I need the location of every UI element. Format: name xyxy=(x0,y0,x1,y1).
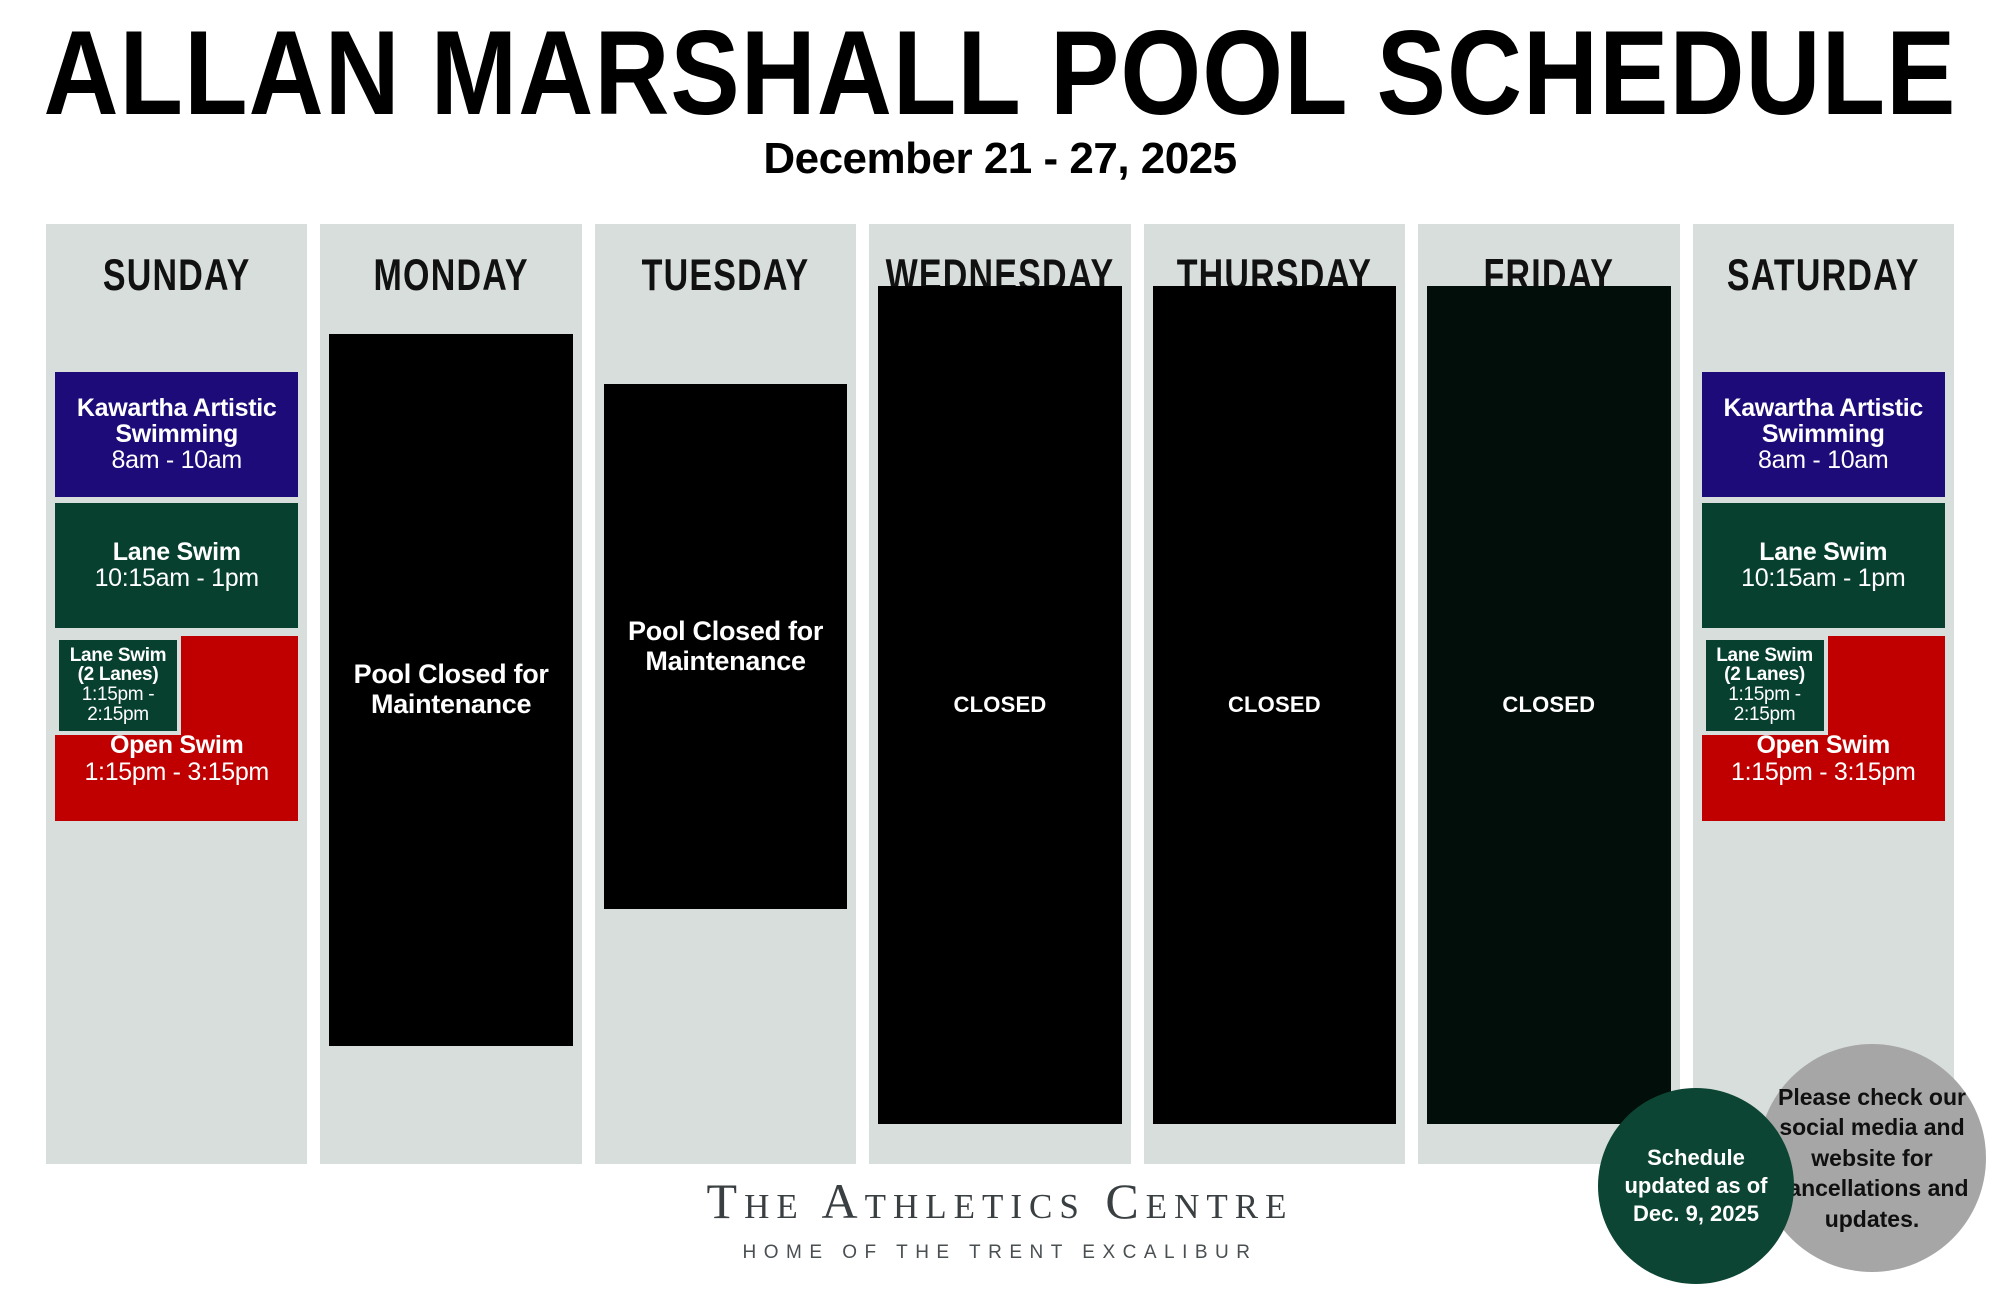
day-column-tuesday: TUESDAYPool Closed for Maintenance xyxy=(595,224,856,1164)
schedule-block-time: 1:15pm - 3:15pm xyxy=(1702,759,1945,786)
schedule-block-title: CLOSED xyxy=(1502,693,1595,717)
page-title: ALLAN MARSHALL POOL SCHEDULE xyxy=(0,14,2000,131)
overlay-block-title: Lane Swim (2 Lanes) xyxy=(63,646,173,685)
page-header: ALLAN MARSHALL POOL SCHEDULE December 21… xyxy=(0,0,2000,184)
schedule-block-title: Lane Swim xyxy=(1759,539,1887,565)
check-social-media-badge: Please check our social media and websit… xyxy=(1758,1044,1986,1272)
day-column-sunday: SUNDAYKawartha Artistic Swimming8am - 10… xyxy=(46,224,307,1164)
day-blocks-container: CLOSED xyxy=(1418,224,1679,1164)
day-column-saturday: SATURDAYKawartha Artistic Swimming8am - … xyxy=(1693,224,1954,1164)
day-blocks-container: Pool Closed for Maintenance xyxy=(320,224,581,1164)
schedule-block-title: Open Swim xyxy=(1702,732,1945,759)
schedule-block-textgroup: Open Swim1:15pm - 3:15pm xyxy=(1702,732,1945,786)
schedule-block-time: 8am - 10am xyxy=(1758,447,1888,474)
day-blocks-container: CLOSED xyxy=(869,224,1130,1164)
schedule-block-title: Pool Closed for Maintenance xyxy=(335,660,566,719)
schedule-block: Lane Swim10:15am - 1pm xyxy=(55,503,298,628)
day-blocks-container: Kawartha Artistic Swimming8am - 10amLane… xyxy=(1693,224,1954,1164)
schedule-block: Lane Swim (2 Lanes)1:15pm - 2:15pmOpen S… xyxy=(1702,636,1945,821)
schedule-block: CLOSED xyxy=(878,286,1121,1124)
schedule-block-time: 10:15am - 1pm xyxy=(1741,565,1905,592)
schedule-updated-badge: Schedule updated as of Dec. 9, 2025 xyxy=(1598,1088,1794,1284)
schedule-block: CLOSED xyxy=(1427,286,1670,1124)
schedule-block-time: 8am - 10am xyxy=(112,447,242,474)
day-column-wednesday: WEDNESDAYCLOSED xyxy=(869,224,1130,1164)
schedule-block-textgroup: Open Swim1:15pm - 3:15pm xyxy=(55,732,298,786)
overlay-lane-swim-block: Lane Swim (2 Lanes)1:15pm - 2:15pm xyxy=(1702,636,1828,735)
day-blocks-container: CLOSED xyxy=(1144,224,1405,1164)
schedule-block: Pool Closed for Maintenance xyxy=(604,384,847,909)
overlay-lane-swim-block: Lane Swim (2 Lanes)1:15pm - 2:15pm xyxy=(55,636,181,735)
overlay-block-title: Lane Swim (2 Lanes) xyxy=(1710,646,1820,685)
schedule-block: Lane Swim10:15am - 1pm xyxy=(1702,503,1945,628)
day-blocks-container: Kawartha Artistic Swimming8am - 10amLane… xyxy=(46,224,307,1164)
schedule-block-title: CLOSED xyxy=(954,693,1047,717)
schedule-block: Kawartha Artistic Swimming8am - 10am xyxy=(1702,372,1945,497)
schedule-block-title: CLOSED xyxy=(1228,693,1321,717)
day-column-monday: MONDAYPool Closed for Maintenance xyxy=(320,224,581,1164)
schedule-block: CLOSED xyxy=(1153,286,1396,1124)
week-schedule-grid: SUNDAYKawartha Artistic Swimming8am - 10… xyxy=(46,224,1954,1164)
schedule-block-title: Kawartha Artistic Swimming xyxy=(61,395,292,447)
schedule-block-time: 1:15pm - 3:15pm xyxy=(55,759,298,786)
schedule-block-time: 10:15am - 1pm xyxy=(95,565,259,592)
overlay-block-time: 1:15pm - 2:15pm xyxy=(63,685,173,725)
schedule-block: Kawartha Artistic Swimming8am - 10am xyxy=(55,372,298,497)
schedule-block-title: Kawartha Artistic Swimming xyxy=(1708,395,1939,447)
schedule-block-title: Pool Closed for Maintenance xyxy=(610,617,841,676)
schedule-block-title: Lane Swim xyxy=(113,539,241,565)
day-column-thursday: THURSDAYCLOSED xyxy=(1144,224,1405,1164)
day-blocks-container: Pool Closed for Maintenance xyxy=(595,224,856,1164)
schedule-block-title: Open Swim xyxy=(55,732,298,759)
schedule-block: Lane Swim (2 Lanes)1:15pm - 2:15pmOpen S… xyxy=(55,636,298,821)
schedule-block: Pool Closed for Maintenance xyxy=(329,334,572,1046)
overlay-block-time: 1:15pm - 2:15pm xyxy=(1710,685,1820,725)
day-column-friday: FRIDAYCLOSED xyxy=(1418,224,1679,1164)
